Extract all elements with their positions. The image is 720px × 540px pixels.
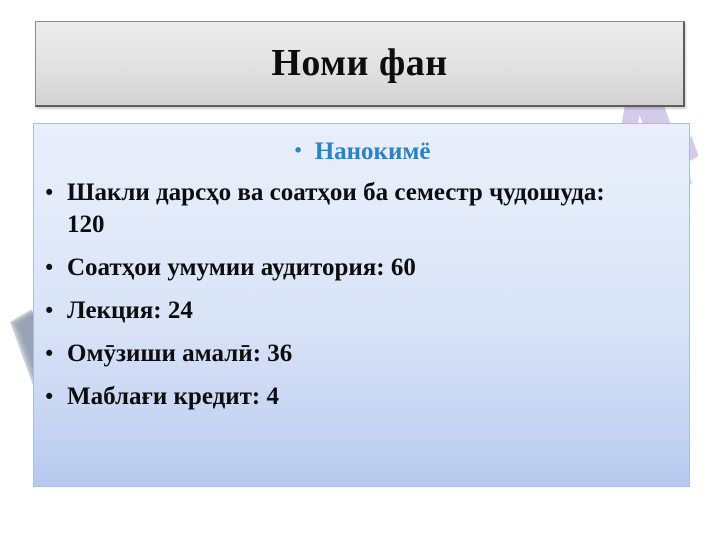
bullet-dot-icon: •	[43, 344, 67, 365]
bullet-dot-icon: •	[43, 301, 67, 322]
list-item: • Нанокимё	[34, 138, 689, 166]
bullet-dot-icon: •	[43, 387, 67, 408]
list-item: • Лекция: 24	[34, 295, 689, 327]
list-item-label: Омӯзиши амалӣ: 36	[67, 338, 292, 370]
list-item-label: Лекция: 24	[67, 295, 193, 327]
list-item: • Шакли дарсҳо ва соатҳои ба семестр ҷуд…	[34, 177, 689, 241]
page-title: Номи фан	[271, 43, 447, 85]
list-item: • Соатҳои умумии аудитория: 60	[34, 252, 689, 284]
list-item: • Маблағи кредит: 4	[34, 381, 689, 413]
list-item-label: Маблағи кредит: 4	[67, 381, 279, 413]
bullet-list: • Нанокимё • Шакли дарсҳо ва соатҳои ба …	[34, 138, 689, 413]
bullet-dot-icon: •	[292, 142, 303, 161]
bullet-dot-icon: •	[43, 258, 67, 279]
list-item-label: Нанокимё	[315, 138, 431, 166]
list-item-label: Шакли дарсҳо ва соатҳои ба семестр ҷудош…	[67, 177, 627, 241]
slide-title-box: Номи фан	[35, 21, 685, 107]
presentation-slide: Hujjat 24 Номи фан • Нанокимё • Шакли да…	[0, 0, 720, 540]
list-item: • Омӯзиши амалӣ: 36	[34, 338, 689, 370]
list-item-label: Соатҳои умумии аудитория: 60	[67, 252, 416, 284]
slide-content-box: • Нанокимё • Шакли дарсҳо ва соатҳои ба …	[33, 123, 690, 487]
bullet-dot-icon: •	[43, 183, 67, 204]
